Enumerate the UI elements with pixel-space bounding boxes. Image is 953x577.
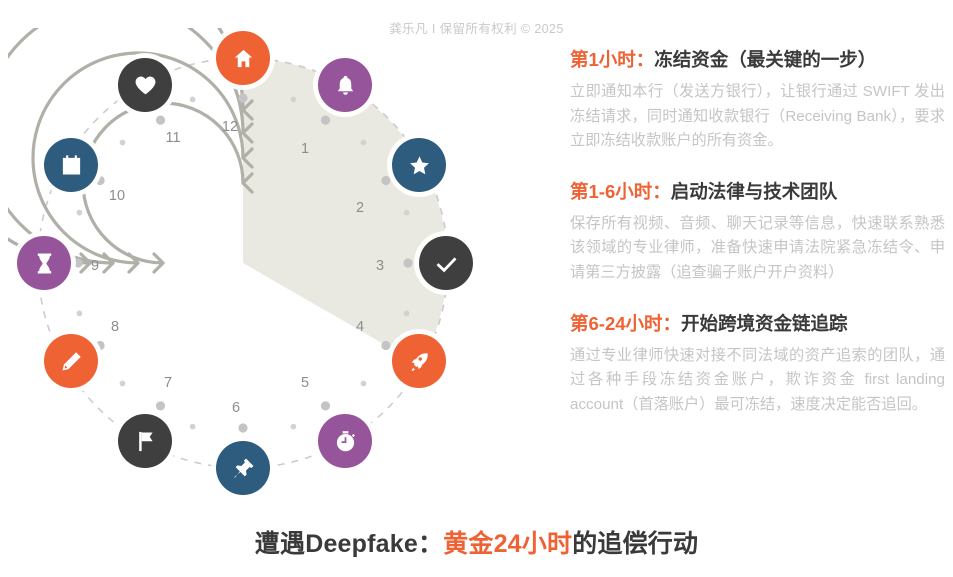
hour-label-11: 11: [165, 130, 180, 146]
hour-label-4: 4: [356, 319, 364, 335]
clock-bubble-star[interactable]: [392, 138, 446, 192]
stopwatch-icon: [334, 430, 357, 453]
infographic-canvas: 龚乐凡 I 保留所有权利 © 2025: [0, 0, 953, 577]
step-heading-rest: 开始跨境资金链追踪: [681, 313, 848, 334]
hour-label-9: 9: [91, 258, 99, 274]
step-heading-highlight: 第1-6小时：: [570, 181, 671, 202]
clock-bubble-home[interactable]: [216, 31, 270, 85]
hourglass-icon: [33, 252, 56, 275]
step-heading-rest: 启动法律与技术团队: [671, 181, 838, 202]
clock-bubble-pin[interactable]: [216, 441, 270, 495]
heart-icon: [134, 74, 157, 97]
step-item: 第6-24小时：开始跨境资金链追踪 通过专业律师快速对接不同法域的资产追索的团队…: [570, 312, 945, 418]
step-heading: 第1-6小时：启动法律与技术团队: [570, 180, 945, 205]
pin-icon: [232, 457, 255, 480]
hour-label-3: 3: [376, 258, 384, 274]
hour-label-7: 7: [164, 375, 172, 391]
spiral-arcs: [8, 28, 243, 263]
clock-bubble-rocket[interactable]: [392, 334, 446, 388]
step-body: 保存所有视频、音频、聊天记录等信息，快速联系熟悉该领域的专业律师，准备快速申请法…: [570, 212, 945, 286]
step-heading-highlight: 第1小时：: [570, 49, 654, 70]
step-heading-rest: 冻结资金（最关键的一步）: [654, 49, 876, 70]
hour-label-6: 6: [232, 400, 240, 416]
step-body: 通过专业律师快速对接不同法域的资产追索的团队，通过各种手段冻结资金账户，欺诈资金…: [570, 344, 945, 418]
bottom-title-part2: 的追偿行动: [572, 530, 698, 558]
hour-label-8: 8: [111, 319, 119, 335]
hour-label-1: 1: [301, 141, 309, 157]
clock-bubble-hourglass[interactable]: [17, 236, 71, 290]
hour-label-5: 5: [301, 375, 309, 391]
bottom-title-part1: 遭遇Deepfake：: [255, 530, 443, 558]
calendar-icon: [60, 154, 83, 177]
step-heading: 第6-24小时：开始跨境资金链追踪: [570, 312, 945, 337]
star-icon: [408, 154, 431, 177]
clock-bubble-flag[interactable]: [118, 414, 172, 468]
clock-bubble-stopwatch[interactable]: [318, 414, 372, 468]
clock-bubble-heart[interactable]: [118, 58, 172, 112]
hour-label-10: 10: [109, 188, 125, 204]
check-icon: [435, 252, 458, 275]
step-body: 立即通知本行（发送方银行），让银行通过 SWIFT 发出冻结请求，同时通知收款银…: [570, 80, 945, 154]
hour-label-12: 12: [222, 119, 238, 135]
steps-list: 第1小时：冻结资金（最关键的一步） 立即通知本行（发送方银行），让银行通过 SW…: [570, 48, 945, 444]
bottom-title: 遭遇Deepfake：黄金24小时的追偿行动: [0, 524, 953, 560]
clock-bubble-pencil[interactable]: [44, 334, 98, 388]
step-heading-highlight: 第6-24小时：: [570, 313, 681, 334]
home-icon: [232, 47, 255, 70]
bottom-title-highlight: 黄金24小时: [443, 530, 572, 558]
clock-bubble-bell[interactable]: [318, 58, 372, 112]
bell-icon: [334, 74, 357, 97]
rocket-icon: [408, 350, 431, 373]
step-heading: 第1小时：冻结资金（最关键的一步）: [570, 48, 945, 73]
step-item: 第1小时：冻结资金（最关键的一步） 立即通知本行（发送方银行），让银行通过 SW…: [570, 48, 945, 154]
clock-bubble-check[interactable]: [419, 236, 473, 290]
pencil-icon: [60, 350, 83, 373]
clock-background-svg: [8, 28, 478, 498]
hour-label-2: 2: [356, 200, 364, 216]
clock-bubble-calendar[interactable]: [44, 138, 98, 192]
step-item: 第1-6小时：启动法律与技术团队 保存所有视频、音频、聊天记录等信息，快速联系熟…: [570, 180, 945, 286]
clock-diagram: 12 1 2 3 4 5 6 7 8 9 10 11: [8, 28, 478, 498]
flag-icon: [134, 430, 157, 453]
